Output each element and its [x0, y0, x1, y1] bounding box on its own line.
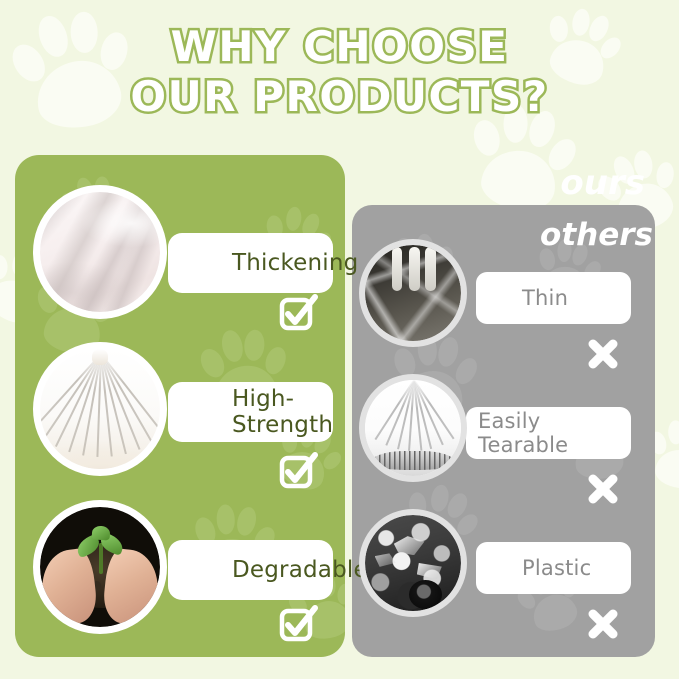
others-row-0-photo: [359, 239, 467, 347]
ours-row-2-label-pill: Degradable: [168, 540, 333, 600]
ours-row-1-photo: [33, 342, 167, 476]
page-title: WHY CHOOSE OUR PRODUCTS?: [0, 22, 679, 122]
ours-row-1-label: High-Strength: [232, 386, 333, 438]
ours-row-1-label-pill: High-Strength: [168, 382, 333, 442]
ours-panel-heading: ours: [560, 163, 645, 203]
ours-row-0-label: Thickening: [232, 250, 358, 276]
check-box-icon: [278, 604, 316, 642]
cross-icon: [585, 336, 621, 372]
others-row-2-label-pill: Plastic: [476, 542, 631, 594]
page-title-line-2: OUR PRODUCTS?: [0, 72, 679, 122]
others-row-1-label: Easily Tearable: [478, 409, 631, 457]
ours-row-0-photo: [33, 185, 167, 319]
cross-icon: [585, 606, 621, 642]
cross-icon: [585, 471, 621, 507]
others-panel-heading: others: [540, 217, 653, 253]
ours-row-0-label-pill: Thickening: [168, 233, 333, 293]
ours-row-2-photo: [33, 500, 167, 634]
check-box-icon: [278, 451, 316, 489]
others-row-0-label-pill: Thin: [476, 272, 631, 324]
others-row-0-label: Thin: [522, 286, 568, 310]
others-row-1-photo: [359, 374, 467, 482]
others-row-1-label-pill: Easily Tearable: [466, 407, 631, 459]
check-box-icon: [278, 293, 316, 331]
others-row-2-label: Plastic: [522, 556, 591, 580]
page-title-line-1: WHY CHOOSE: [0, 22, 679, 72]
ours-row-2-label: Degradable: [232, 557, 368, 583]
others-row-2-photo: [359, 509, 467, 617]
